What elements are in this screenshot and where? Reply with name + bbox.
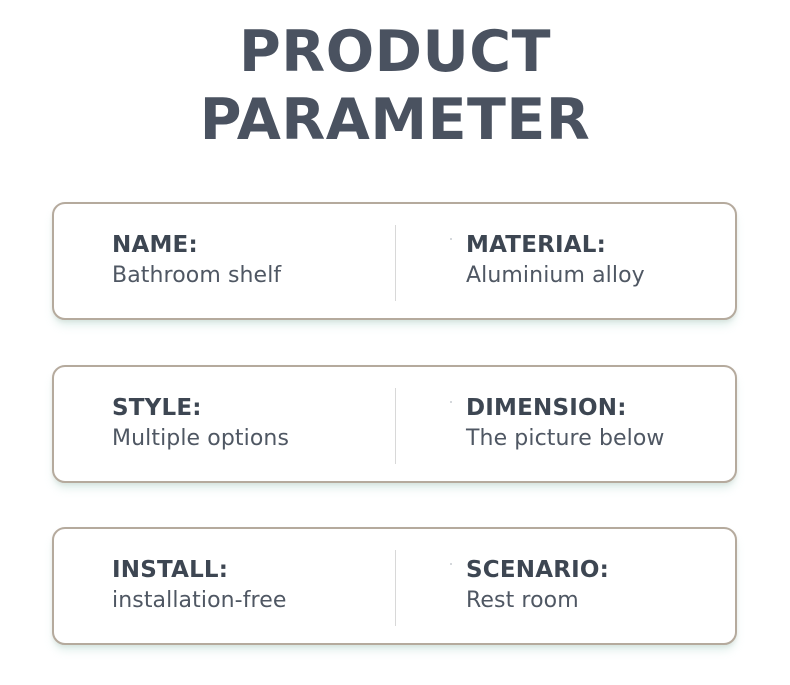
speck-artifact-icon — [450, 238, 452, 240]
parameter-field-scenario: SCENARIO: Rest room — [466, 555, 609, 617]
speck-artifact-icon — [450, 563, 452, 565]
parameter-field-material: MATERIAL: Aluminium alloy — [466, 230, 645, 292]
parameter-card-3-inner: INSTALL: installation-free SCENARIO: Res… — [54, 529, 735, 643]
page-title-line-1: PRODUCT — [0, 18, 790, 86]
parameter-label-dimension: DIMENSION: — [466, 393, 665, 423]
parameter-label-install: INSTALL: — [112, 555, 287, 585]
page-title-line-2: PARAMETER — [0, 86, 790, 154]
parameter-field-style: STYLE: Multiple options — [112, 393, 289, 455]
card-divider — [395, 225, 396, 301]
parameter-label-material: MATERIAL: — [466, 230, 645, 260]
parameter-value-dimension: The picture below — [466, 423, 665, 455]
parameter-card-3: INSTALL: installation-free SCENARIO: Res… — [52, 527, 737, 645]
parameter-card-1-inner: NAME: Bathroom shelf MATERIAL: Aluminium… — [54, 204, 735, 318]
parameter-value-style: Multiple options — [112, 423, 289, 455]
parameter-label-scenario: SCENARIO: — [466, 555, 609, 585]
parameter-value-name: Bathroom shelf — [112, 260, 281, 292]
parameter-label-style: STYLE: — [112, 393, 289, 423]
parameter-field-install: INSTALL: installation-free — [112, 555, 287, 617]
speck-artifact-icon — [450, 401, 452, 403]
parameter-card-2-inner: STYLE: Multiple options DIMENSION: The p… — [54, 367, 735, 481]
page-title: PRODUCT PARAMETER — [0, 18, 790, 154]
parameter-value-scenario: Rest room — [466, 585, 609, 617]
parameter-label-name: NAME: — [112, 230, 281, 260]
card-divider — [395, 550, 396, 626]
card-divider — [395, 388, 396, 464]
parameter-card-2: STYLE: Multiple options DIMENSION: The p… — [52, 365, 737, 483]
parameter-card-1: NAME: Bathroom shelf MATERIAL: Aluminium… — [52, 202, 737, 320]
parameter-field-dimension: DIMENSION: The picture below — [466, 393, 665, 455]
parameter-field-name: NAME: Bathroom shelf — [112, 230, 281, 292]
parameter-value-install: installation-free — [112, 585, 287, 617]
product-parameter-page: PRODUCT PARAMETER NAME: Bathroom shelf M… — [0, 0, 790, 685]
parameter-value-material: Aluminium alloy — [466, 260, 645, 292]
